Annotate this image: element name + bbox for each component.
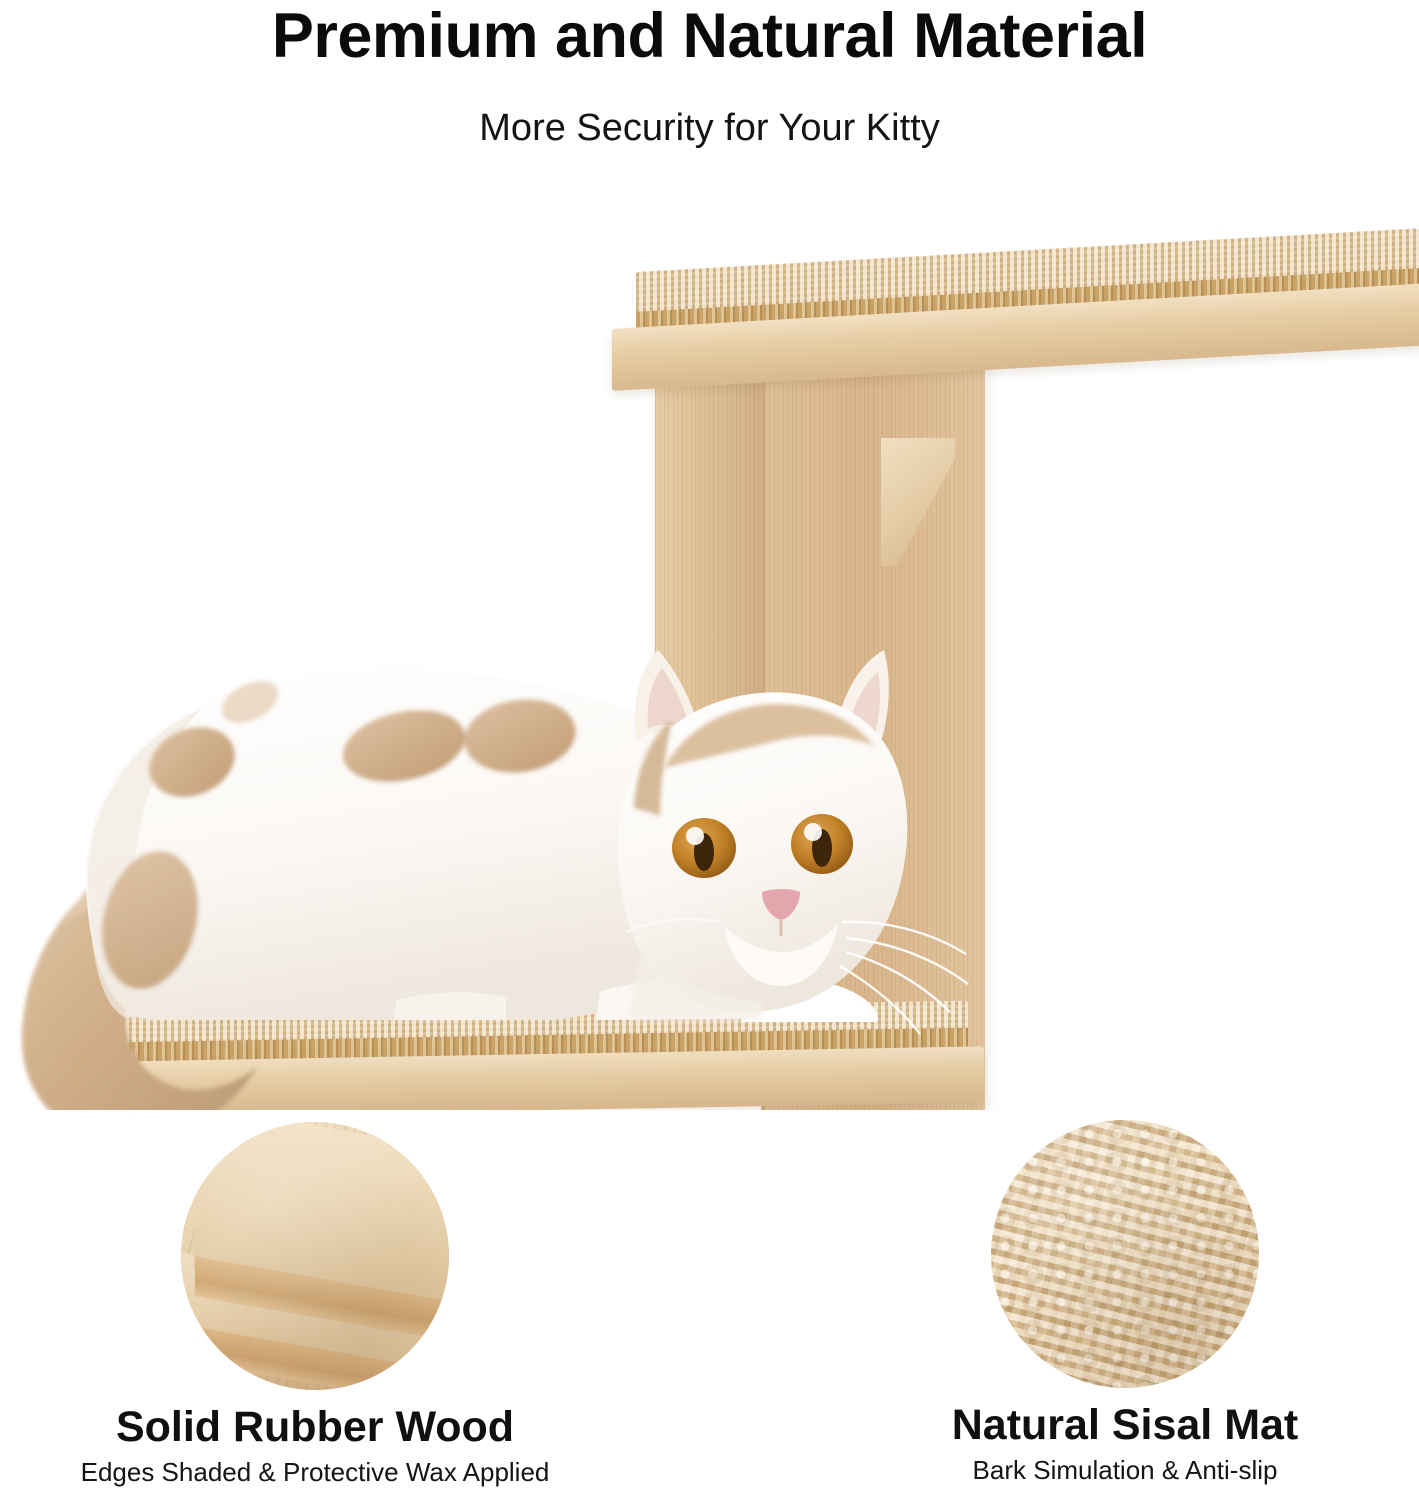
feature-title: Natural Sisal Mat xyxy=(845,1403,1405,1448)
sisal-weave-texture xyxy=(991,1120,1259,1388)
wood-swatch-circle xyxy=(181,1122,449,1390)
feature-title: Solid Rubber Wood xyxy=(35,1405,595,1450)
feature-natural-sisal-mat: Natural Sisal Mat Bark Simulation & Anti… xyxy=(975,1120,1275,1486)
feature-solid-rubber-wood: Solid Rubber Wood Edges Shaded & Protect… xyxy=(165,1122,465,1488)
cat-eye-right xyxy=(791,814,853,874)
cat-eye-left xyxy=(672,818,736,878)
feature-subtitle: Edges Shaded & Protective Wax Applied xyxy=(35,1458,595,1488)
product-feature-page: Premium and Natural Material More Securi… xyxy=(0,0,1419,1500)
hero-product-photo xyxy=(0,180,1419,1110)
sisal-swatch-circle xyxy=(991,1120,1259,1388)
page-headline: Premium and Natural Material xyxy=(0,2,1419,70)
page-subheadline: More Security for Your Kitty xyxy=(0,106,1419,152)
feature-subtitle: Bark Simulation & Anti-slip xyxy=(845,1456,1405,1486)
cat-on-shelf xyxy=(0,180,1419,1110)
